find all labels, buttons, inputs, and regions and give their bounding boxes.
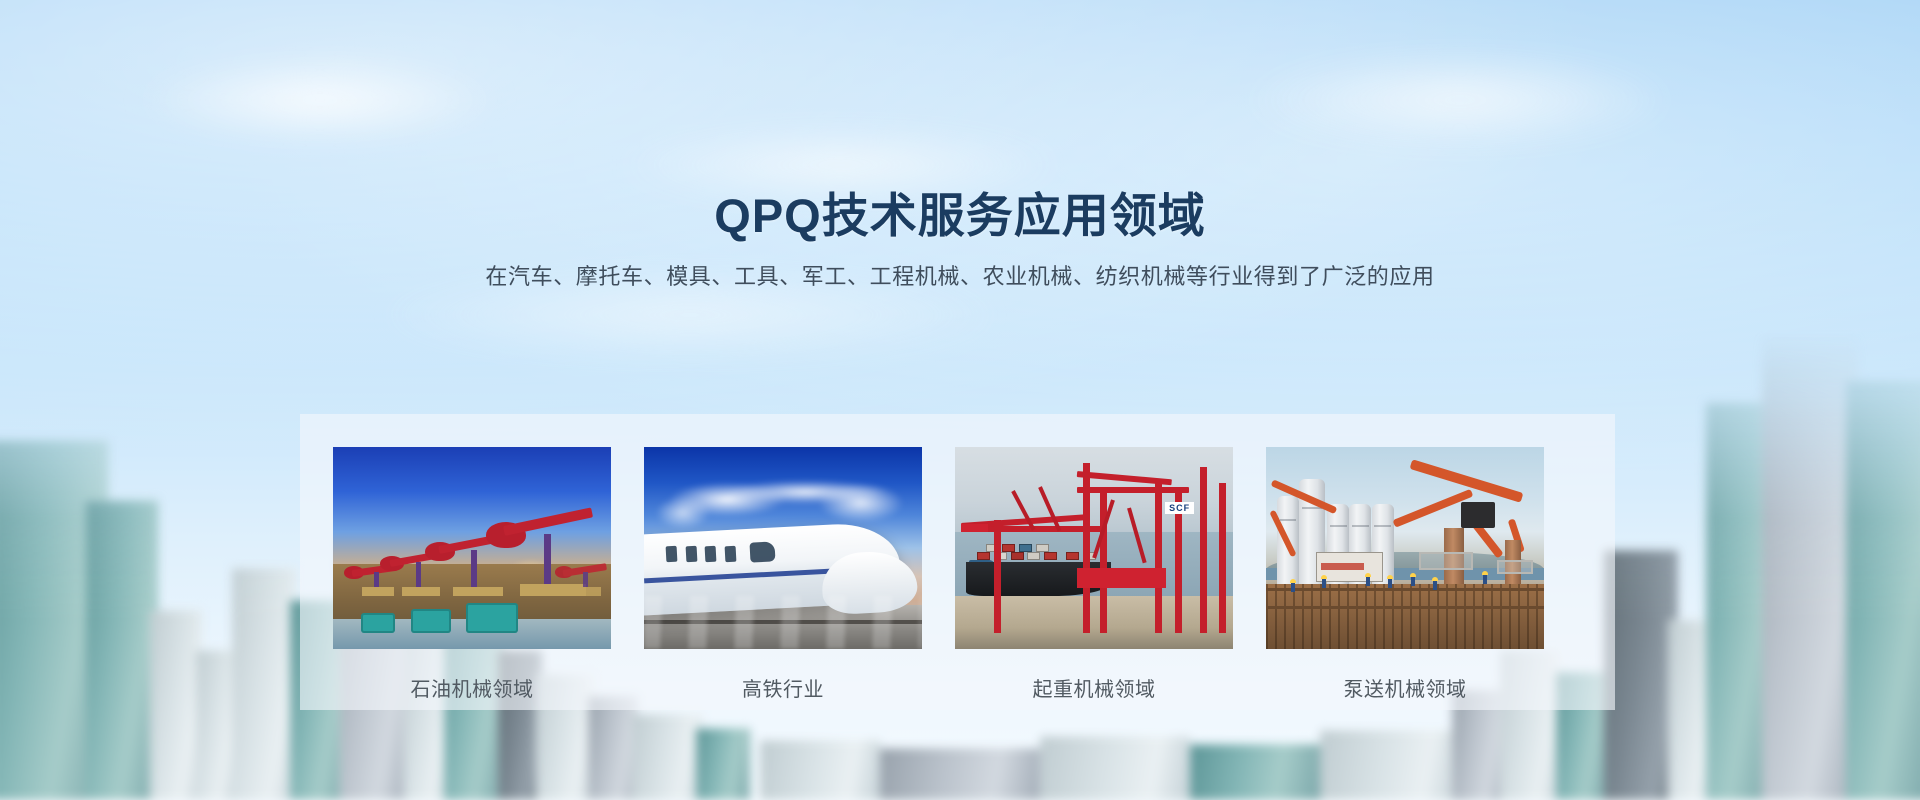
- hero-banner: QPQ技术服务应用领域 在汽车、摩托车、模具、工具、军工、工程机械、农业机械、纺…: [0, 0, 1920, 800]
- crane-leg: [1100, 487, 1107, 632]
- crane-boom: [1077, 487, 1188, 493]
- container: [1066, 552, 1079, 560]
- application-card-caption: 高铁行业: [742, 673, 824, 702]
- page-subtitle: 在汽车、摩托车、模具、工具、军工、工程机械、农业机械、纺织机械等行业得到了广泛的…: [0, 262, 1920, 293]
- work-platform: [1419, 552, 1473, 570]
- application-card-oil[interactable]: 石油机械领域: [333, 447, 611, 702]
- oil-pumpjacks-image[interactable]: [333, 447, 611, 649]
- operator-cab: [1461, 502, 1495, 528]
- crane-leg: [1155, 479, 1162, 633]
- train-window: [666, 546, 678, 563]
- pumpjack: [555, 552, 611, 596]
- skyline-building: [1762, 330, 1858, 800]
- skyline-building: [1846, 380, 1920, 800]
- tree-line-background: [0, 710, 1100, 800]
- page-title: QPQ技术服务应用领域: [0, 188, 1920, 243]
- deck-rail: [1266, 606, 1544, 609]
- work-platform: [1497, 560, 1533, 574]
- container: [1027, 552, 1040, 560]
- train-window: [685, 546, 697, 563]
- concrete-pump-site-image[interactable]: [1266, 447, 1544, 649]
- crane-leg: [1083, 463, 1090, 633]
- rebar-deck: [1266, 584, 1544, 649]
- deck-rail: [1266, 588, 1544, 591]
- application-card-caption: 石油机械领域: [411, 673, 534, 702]
- port-gantry-cranes-image[interactable]: SCF: [955, 447, 1233, 649]
- skyline-building: [1190, 744, 1320, 800]
- train-window: [705, 546, 717, 563]
- crane-girder: [1077, 568, 1166, 588]
- worker: [1366, 577, 1370, 586]
- container: [1011, 552, 1024, 560]
- banner-heading-group: QPQ技术服务应用领域 在汽车、摩托车、模具、工具、军工、工程机械、农业机械、纺…: [0, 188, 1920, 293]
- crane-leg: [1200, 467, 1207, 633]
- application-card-lifting[interactable]: SCF 起重机械领域: [955, 447, 1233, 702]
- worker: [1388, 579, 1392, 588]
- worker: [1291, 583, 1295, 592]
- crane-leg: [994, 520, 1001, 633]
- skyline-building: [1320, 730, 1460, 800]
- application-card-pumping[interactable]: 泵送机械领域: [1266, 447, 1544, 702]
- container: [977, 552, 990, 560]
- wellhead-pump: [466, 603, 518, 633]
- application-card-caption: 起重机械领域: [1033, 673, 1156, 702]
- container: [1044, 552, 1057, 560]
- wellhead-pump: [361, 613, 395, 633]
- train-windshield: [749, 541, 775, 562]
- application-card-caption: 泵送机械领域: [1344, 673, 1467, 702]
- worker: [1433, 581, 1437, 590]
- container: [1002, 544, 1015, 552]
- train-window: [724, 546, 736, 563]
- container: [1019, 544, 1032, 552]
- container: [1036, 544, 1049, 552]
- wellhead-pump: [411, 609, 451, 633]
- crane-girder: [961, 524, 989, 532]
- motion-blur-streaks: [644, 596, 922, 649]
- application-card-railway[interactable]: 高铁行业: [644, 447, 922, 702]
- worker: [1322, 579, 1326, 588]
- skyline-building: [1604, 550, 1678, 800]
- application-fields-panel: 石油机械领域 高铁行业: [300, 414, 1615, 710]
- crane-leg: [1219, 483, 1226, 632]
- high-speed-train-image[interactable]: [644, 447, 922, 649]
- worker: [1483, 575, 1487, 584]
- scf-logo: SCF: [1165, 502, 1194, 514]
- worker: [1411, 577, 1415, 586]
